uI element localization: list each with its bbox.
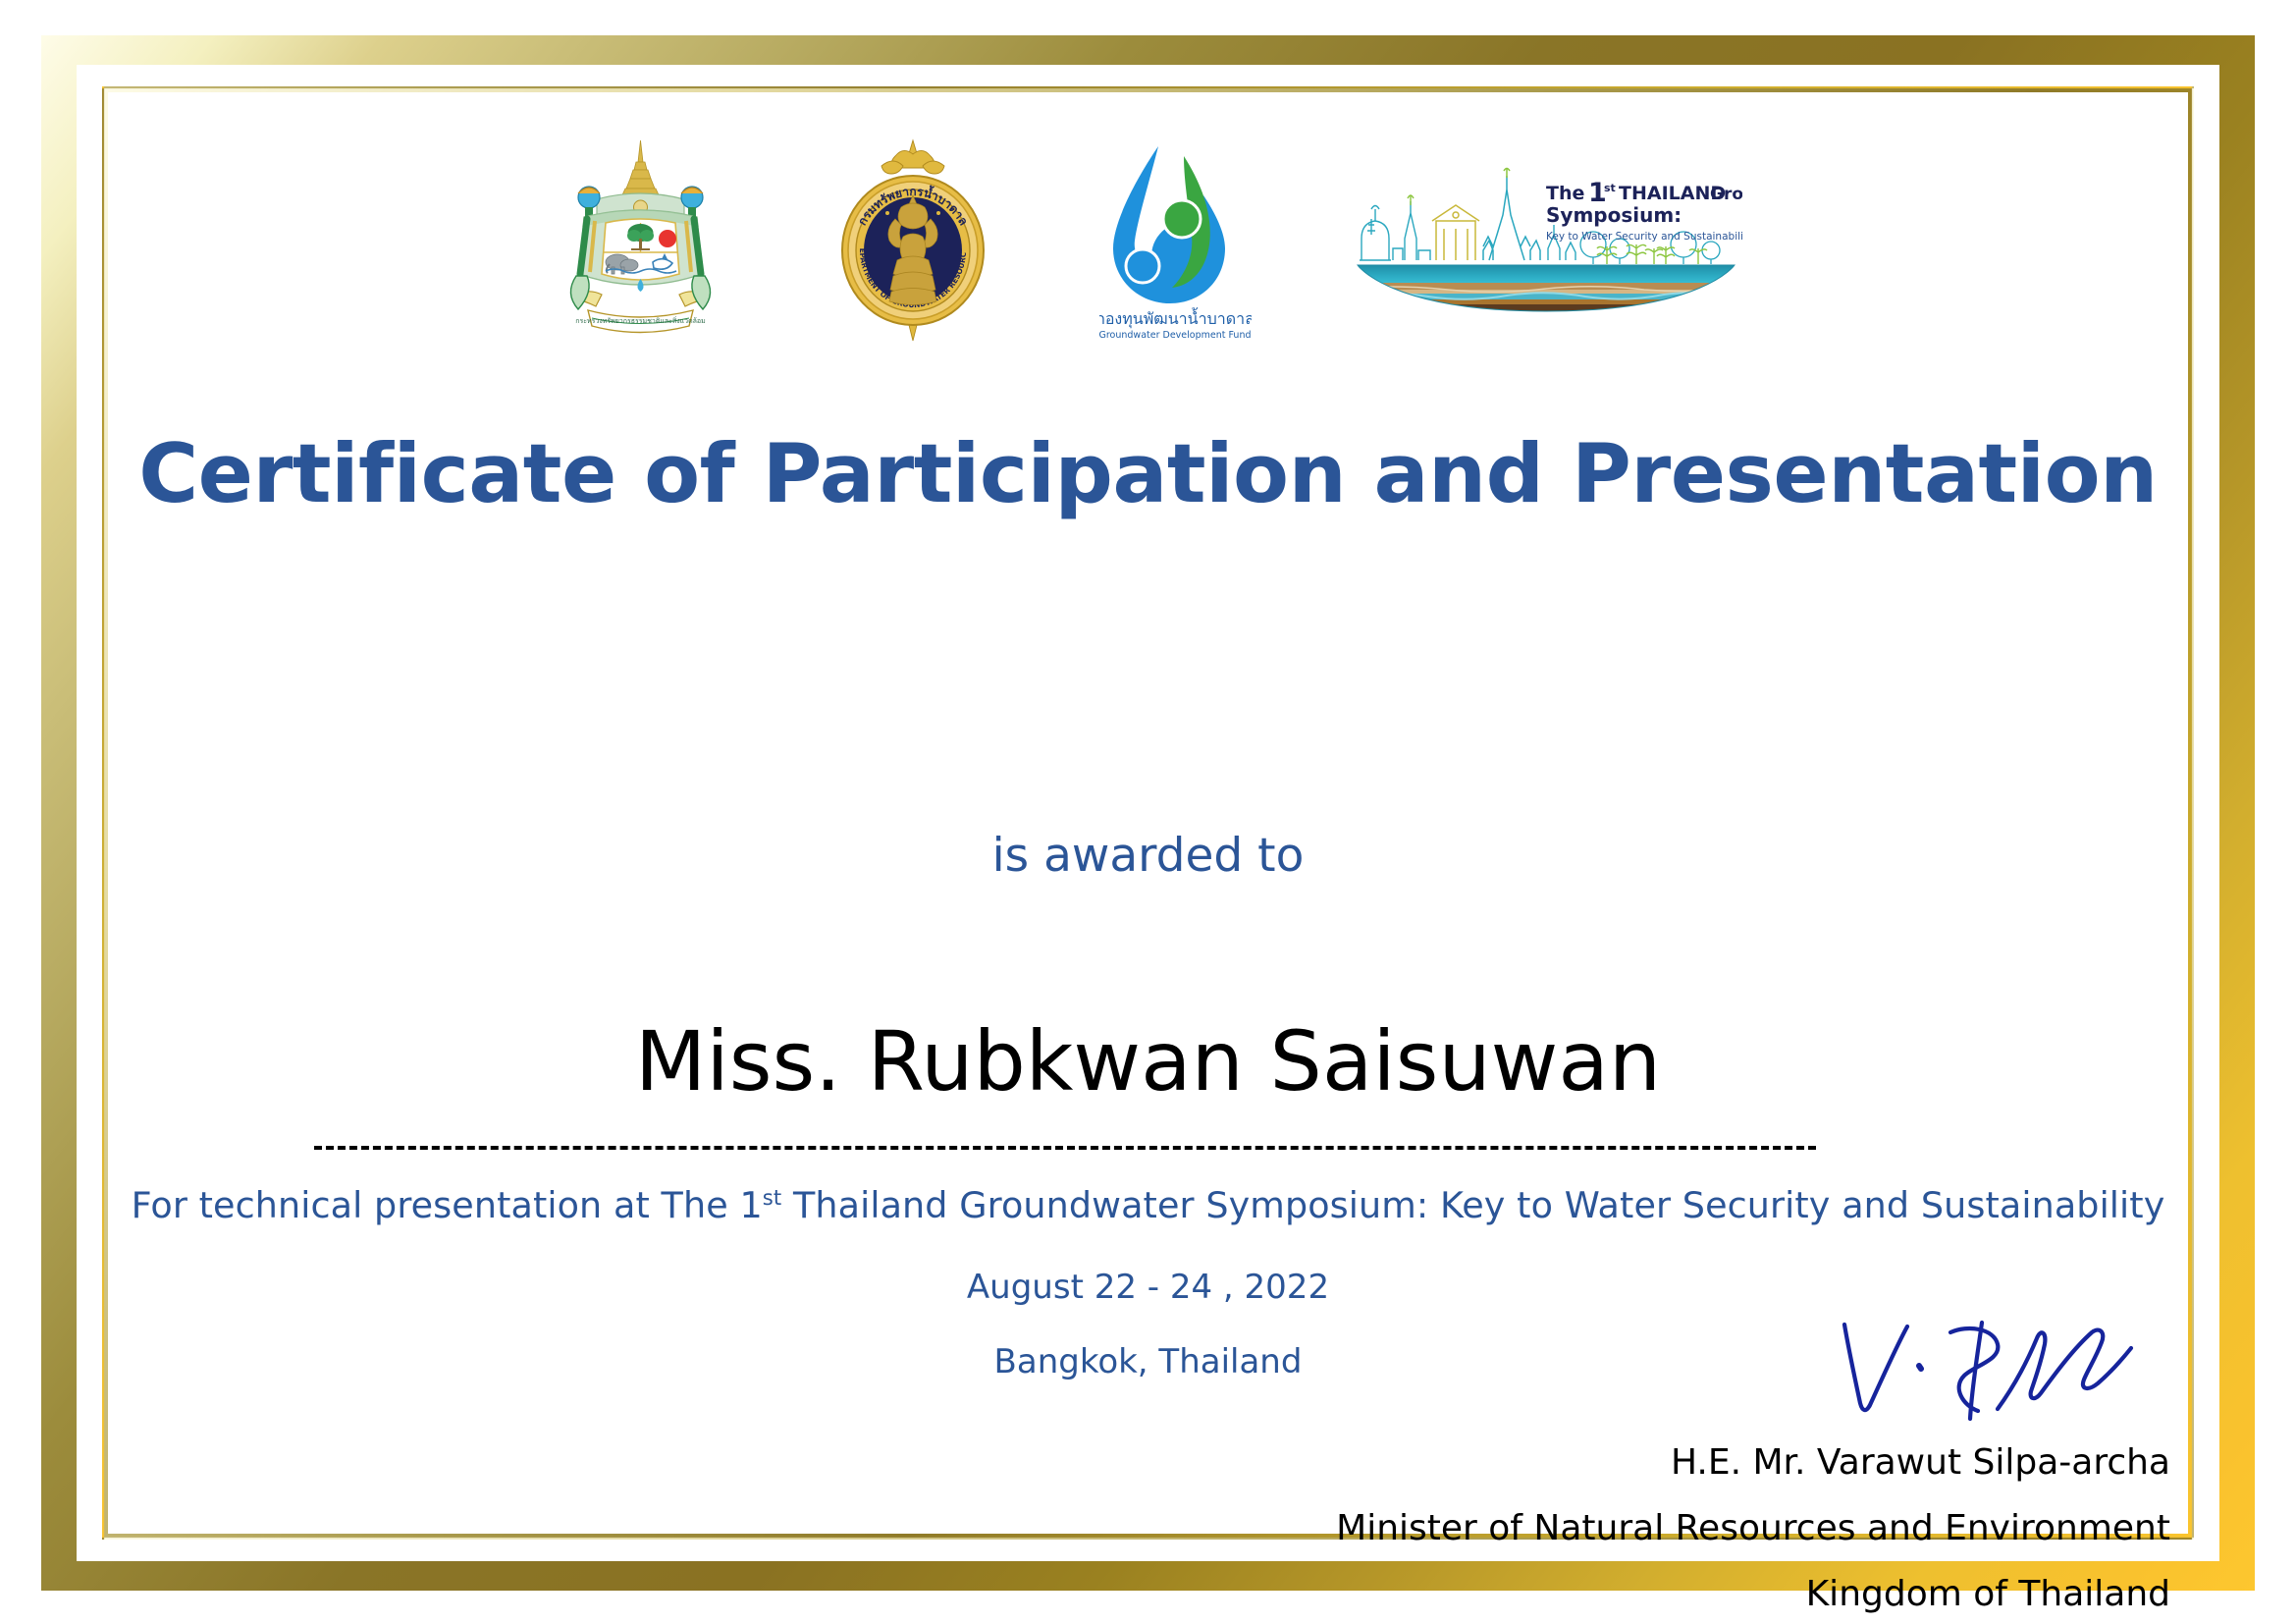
certificate-title: Certificate of Participation and Present…	[118, 426, 2178, 521]
svg-text:กระทรวงทรัพยากรธรรมชาติและสิ่ง: กระทรวงทรัพยากรธรรมชาติและสิ่งแวดล้อม	[575, 316, 705, 325]
signatory-country: Kingdom of Thailand	[1295, 1574, 2178, 1614]
presentation-detail-prefix: For technical presentation at The 1	[132, 1184, 763, 1226]
signatory-role: Minister of Natural Resources and Enviro…	[1295, 1508, 2178, 1548]
svg-text:Key to Water Security and Sust: Key to Water Security and Sustainability	[1546, 231, 1742, 243]
awarded-to-label: is awarded to	[118, 829, 2178, 883]
presentation-detail: For technical presentation at The 1st Th…	[118, 1184, 2178, 1226]
svg-text:Groundwater: Groundwater	[1710, 185, 1742, 204]
svg-text:Groundwater Development Fund: Groundwater Development Fund	[1099, 330, 1252, 341]
recipient-underline	[314, 1146, 1816, 1150]
signatory-name: H.E. Mr. Varawut Silpa-archa	[1295, 1442, 2178, 1483]
presentation-detail-suffix: Thailand Groundwater Symposium: Key to W…	[781, 1184, 2164, 1226]
svg-text:st: st	[1604, 182, 1616, 194]
event-date: August 22 - 24 , 2022	[118, 1268, 2178, 1307]
dgr-emblem-icon: กรมทรัพยากรน้ำบาดาล DEPARTMENT OF GROUND…	[825, 135, 1001, 346]
handwritten-signature-icon	[1825, 1315, 2149, 1433]
recipient-name: Miss. Rubkwan Saisuwan	[118, 1020, 2178, 1103]
moe-emblem-icon: กระทรวงทรัพยากรธรรมชาติและสิ่งแวดล้อม	[555, 136, 726, 343]
signature-block: H.E. Mr. Varawut Silpa-archa Minister of…	[1295, 1315, 2178, 1614]
svg-text:The: The	[1546, 183, 1584, 204]
svg-text:กองทุนพัฒนาน้ำบาดาล: กองทุนพัฒนาน้ำบาดาล	[1099, 307, 1252, 329]
svg-text:Symposium:: Symposium:	[1546, 203, 1682, 227]
certificate-content: กระทรวงทรัพยากรธรรมชาติและสิ่งแวดล้อม	[118, 82, 2178, 1542]
presentation-detail-ordinal-suffix: st	[763, 1185, 782, 1210]
logo-row: กระทรวงทรัพยากรธรรมชาติและสิ่งแวดล้อม	[118, 122, 2178, 357]
symposium-logo-icon: The 1 st THAILAND Groundwater Symposium:…	[1350, 166, 1742, 313]
gdf-logo-icon: กองทุนพัฒนาน้ำบาดาล Groundwater Developm…	[1099, 135, 1252, 346]
certificate: กระทรวงทรัพยากรธรรมชาติและสิ่งแวดล้อม	[0, 0, 2296, 1624]
